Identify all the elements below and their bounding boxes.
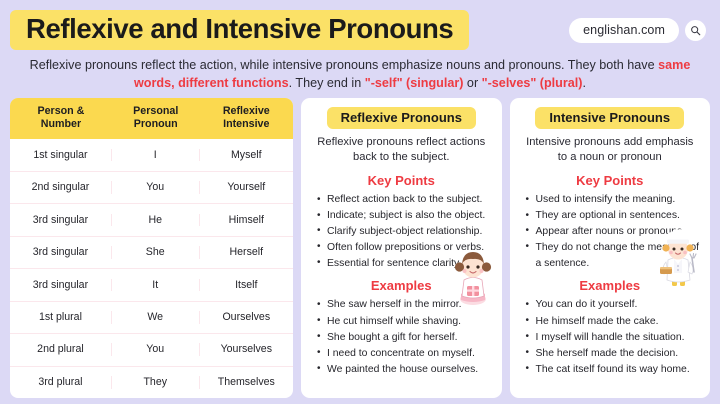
list-item: Essential for sentence clarity. (315, 256, 492, 272)
intensive-card-title-wrap: Intensive Pronouns (520, 107, 701, 129)
list-item: He himself made the cake. (524, 314, 701, 330)
cell-reflexive-intensive: Yourselves (200, 343, 293, 356)
list-item: Appear after nouns or pronouns. (524, 224, 701, 240)
brand-name[interactable]: englishan.com (569, 18, 679, 43)
list-item: The cat itself found its way home. (524, 362, 701, 378)
reflexive-card-title: Reflexive Pronouns (327, 107, 476, 129)
list-item: I need to concentrate on myself. (315, 346, 492, 362)
intensive-key-points-list: Used to intensify the meaning. They are … (520, 192, 701, 271)
cell-reflexive-intensive: Itself (200, 279, 293, 292)
reflexive-examples-heading: Examples (311, 271, 492, 297)
cell-person-number: 3rd singular (10, 214, 112, 227)
title-banner: Reflexive and Intensive Pronouns (10, 10, 469, 51)
cell-reflexive-intensive: Themselves (200, 376, 293, 389)
reflexive-examples-list: She saw herself in the mirror. He cut hi… (311, 297, 492, 378)
list-item: You can do it yourself. (524, 297, 701, 313)
table-row: 2nd plural You Yourselves (10, 333, 293, 365)
list-item: They do not change the meaning of a sent… (524, 240, 701, 272)
reflexive-key-points-heading: Key Points (311, 166, 492, 192)
list-item: We painted the house ourselves. (315, 362, 492, 378)
cell-reflexive-intensive: Myself (200, 149, 293, 162)
cell-personal-pronoun: He (112, 214, 200, 227)
cell-reflexive-intensive: Herself (200, 246, 293, 259)
cell-reflexive-intensive: Yourself (200, 181, 293, 194)
cell-person-number: 3rd plural (10, 376, 112, 389)
cell-person-number: 3rd singular (10, 279, 112, 292)
pronoun-table-column: Person & Number Personal Pronoun Reflexi… (10, 98, 293, 399)
reflexive-pronouns-card: Reflexive Pronouns Reflexive pronouns re… (301, 98, 502, 399)
intensive-card-intro: Intensive pronouns add emphasis to a nou… (520, 129, 701, 167)
intro-highlight-2: "-self" (singular) (365, 76, 464, 90)
table-row: 3rd singular He Himself (10, 203, 293, 235)
cell-reflexive-intensive: Ourselves (200, 311, 293, 324)
cell-personal-pronoun: It (112, 279, 200, 292)
intensive-card-title: Intensive Pronouns (535, 107, 684, 129)
intensive-examples-heading: Examples (520, 271, 701, 297)
intensive-examples-list: You can do it yourself. He himself made … (520, 297, 701, 378)
cell-personal-pronoun: She (112, 246, 200, 259)
table-row: 1st plural We Ourselves (10, 301, 293, 333)
pronoun-table: Person & Number Personal Pronoun Reflexi… (10, 98, 293, 399)
intensive-card-column: Intensive Pronouns Intensive pronouns ad… (510, 98, 711, 399)
cell-reflexive-intensive: Himself (200, 214, 293, 227)
header-line: Reflexive (202, 105, 291, 118)
reflexive-key-points-list: Reflect action back to the subject. Indi… (311, 192, 492, 271)
list-item: Reflect action back to the subject. (315, 192, 492, 208)
intro-highlight-3: "-selves" (plural) (482, 76, 583, 90)
cell-personal-pronoun: You (112, 181, 200, 194)
cell-personal-pronoun: They (112, 376, 200, 389)
intro-text-1: Reflexive pronouns reflect the action, w… (30, 58, 658, 72)
header: Reflexive and Intensive Pronouns english… (10, 8, 710, 52)
list-item: Used to intensify the meaning. (524, 192, 701, 208)
table-header-row: Person & Number Personal Pronoun Reflexi… (10, 98, 293, 140)
cell-person-number: 1st plural (10, 311, 112, 324)
list-item: He cut himself while shaving. (315, 314, 492, 330)
list-item: Clarify subject-object relationship. (315, 224, 492, 240)
table-header-person-number: Person & Number (10, 98, 112, 140)
intro-text-2: . They end in (289, 76, 365, 90)
table-row: 1st singular I Myself (10, 139, 293, 170)
table-header-reflexive-intensive: Reflexive Intensive (200, 98, 293, 140)
intro-paragraph: Reflexive pronouns reflect the action, w… (10, 52, 710, 98)
list-item: She herself made the decision. (524, 346, 701, 362)
list-item: She bought a gift for herself. (315, 330, 492, 346)
intro-text-4: . (582, 76, 586, 90)
cell-person-number: 2nd singular (10, 181, 112, 194)
intensive-pronouns-card: Intensive Pronouns Intensive pronouns ad… (510, 98, 711, 399)
intro-text-3: or (463, 76, 481, 90)
cell-person-number: 2nd plural (10, 343, 112, 356)
cell-personal-pronoun: We (112, 311, 200, 324)
table-header-personal-pronoun: Personal Pronoun (112, 98, 200, 140)
poster-root: Reflexive and Intensive Pronouns english… (0, 0, 720, 404)
reflexive-card-intro: Reflexive pronouns reflect actions back … (311, 129, 492, 167)
page-title: Reflexive and Intensive Pronouns (26, 15, 453, 44)
content-columns: Person & Number Personal Pronoun Reflexi… (10, 98, 710, 399)
intensive-key-points-heading: Key Points (520, 166, 701, 192)
table-row: 3rd singular She Herself (10, 236, 293, 268)
cell-personal-pronoun: You (112, 343, 200, 356)
list-item: She saw herself in the mirror. (315, 297, 492, 313)
cell-person-number: 3rd singular (10, 246, 112, 259)
list-item: I myself will handle the situation. (524, 330, 701, 346)
table-row: 2nd singular You Yourself (10, 171, 293, 203)
table-body: 1st singular I Myself 2nd singular You Y… (10, 139, 293, 398)
list-item: Often follow prepositions or verbs. (315, 240, 492, 256)
list-item: Indicate; subject is also the object. (315, 208, 492, 224)
brand-group: englishan.com (569, 18, 710, 43)
header-line: Number (12, 118, 110, 131)
header-line: Intensive (202, 118, 291, 131)
header-line: Pronoun (114, 118, 198, 131)
table-row: 3rd singular It Itself (10, 268, 293, 300)
cell-personal-pronoun: I (112, 149, 200, 162)
table-row: 3rd plural They Themselves (10, 366, 293, 398)
cell-person-number: 1st singular (10, 149, 112, 162)
header-line: Person & (12, 105, 110, 118)
header-line: Personal (114, 105, 198, 118)
search-icon[interactable] (685, 20, 706, 41)
reflexive-card-column: Reflexive Pronouns Reflexive pronouns re… (301, 98, 502, 399)
list-item: They are optional in sentences. (524, 208, 701, 224)
reflexive-card-title-wrap: Reflexive Pronouns (311, 107, 492, 129)
